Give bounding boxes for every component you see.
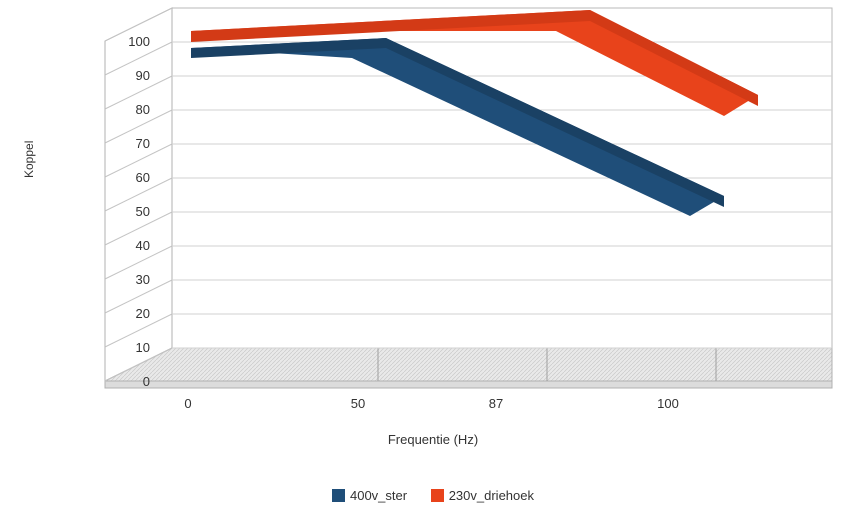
series-ribbon-400v-ster (191, 38, 724, 216)
x-tick-0: 0 (158, 396, 218, 411)
x-axis-title: Frequentie (Hz) (0, 432, 866, 447)
y-tick-50: 50 (110, 206, 150, 218)
series-ribbon-230v-driehoek (191, 10, 758, 116)
chart-back-wall (172, 8, 832, 348)
chart-gridlines (172, 42, 832, 348)
legend-swatch-400v-ster (332, 489, 345, 502)
chart-legend: 400v_ster 230v_driehoek (0, 488, 866, 503)
y-tick-70: 70 (110, 138, 150, 150)
y-tick-100: 100 (110, 36, 150, 48)
chart-floor-ticks (378, 348, 716, 381)
y-tick-30: 30 (110, 274, 150, 286)
chart-floor (105, 348, 832, 381)
x-tick-87: 87 (466, 396, 526, 411)
chart-floor-edge (105, 381, 832, 388)
chart-container: 100 90 80 70 60 50 40 30 20 10 0 0 50 87… (0, 0, 866, 515)
legend-item-400v-ster[interactable]: 400v_ster (332, 488, 407, 503)
y-tick-80: 80 (110, 104, 150, 116)
x-axis-tick-labels: 0 50 87 100 (0, 396, 866, 416)
legend-item-230v-driehoek[interactable]: 230v_driehoek (431, 488, 534, 503)
y-axis-tick-labels: 100 90 80 70 60 50 40 30 20 10 0 (20, 0, 150, 400)
y-tick-20: 20 (110, 308, 150, 320)
y-tick-40: 40 (110, 240, 150, 252)
y-tick-90: 90 (110, 70, 150, 82)
y-tick-60: 60 (110, 172, 150, 184)
y-tick-10: 10 (110, 342, 150, 354)
legend-swatch-230v-driehoek (431, 489, 444, 502)
y-axis-title: Koppel (22, 141, 36, 178)
legend-label-400v-ster: 400v_ster (350, 488, 407, 503)
x-tick-50: 50 (328, 396, 388, 411)
y-tick-0: 0 (110, 376, 150, 388)
x-tick-100: 100 (638, 396, 698, 411)
legend-label-230v-driehoek: 230v_driehoek (449, 488, 534, 503)
